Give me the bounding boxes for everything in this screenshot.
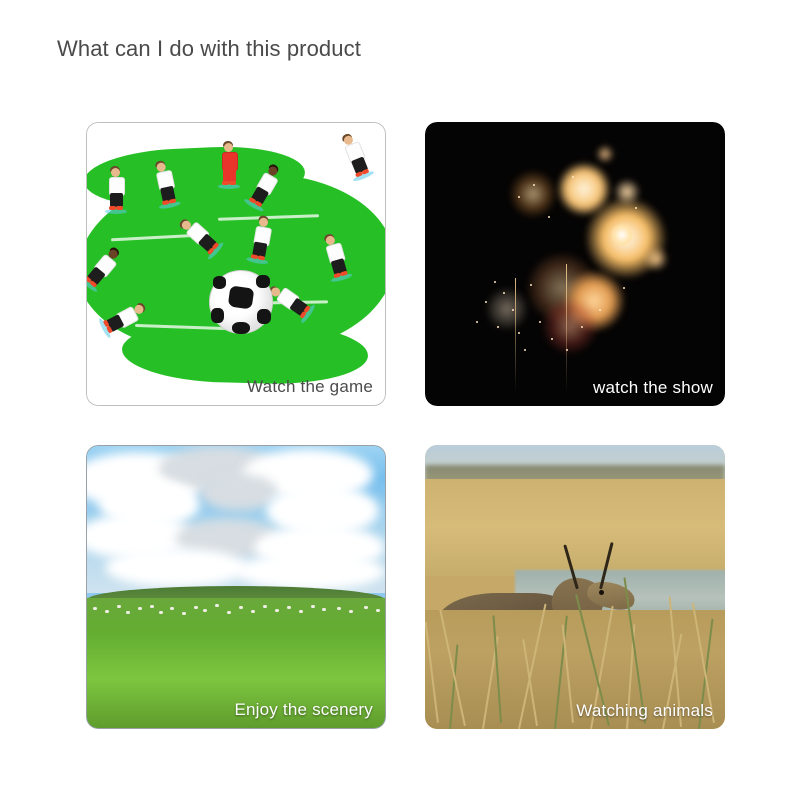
usage-card-watch-the-game[interactable]: Watch the game (86, 122, 386, 406)
card-caption: Watch the game (247, 377, 373, 397)
soccer-ball (209, 270, 273, 334)
card-frame: Watching animals (425, 445, 725, 729)
usage-card-watching-animals[interactable]: Watching animals (425, 445, 725, 729)
cloud (236, 553, 385, 590)
firework-ember (596, 145, 614, 163)
page-title: What can I do with this product (57, 36, 361, 62)
firework-trail (515, 278, 516, 392)
card-frame: Enjoy the scenery (86, 445, 386, 729)
card-caption: Enjoy the scenery (234, 700, 373, 720)
usage-card-grid: Watch the game (86, 122, 726, 722)
card-frame: watch the show (425, 122, 725, 406)
firework-burst (509, 170, 557, 218)
firework-ember (614, 179, 640, 205)
cloud (105, 548, 248, 587)
usage-card-watch-the-show[interactable]: watch the show (425, 122, 725, 406)
far-grass (425, 479, 725, 576)
card-caption: Watching animals (576, 701, 713, 721)
card-frame: Watch the game (86, 122, 386, 406)
firework-trail (566, 264, 567, 392)
firework-ember (644, 247, 668, 271)
product-usage-page: What can I do with this product (0, 0, 800, 800)
sheep-flock (87, 603, 385, 617)
usage-card-enjoy-the-scenery[interactable]: Enjoy the scenery (86, 445, 386, 729)
card-caption: watch the show (593, 378, 713, 398)
firework-ember (485, 287, 529, 331)
firework-burst (542, 298, 598, 354)
